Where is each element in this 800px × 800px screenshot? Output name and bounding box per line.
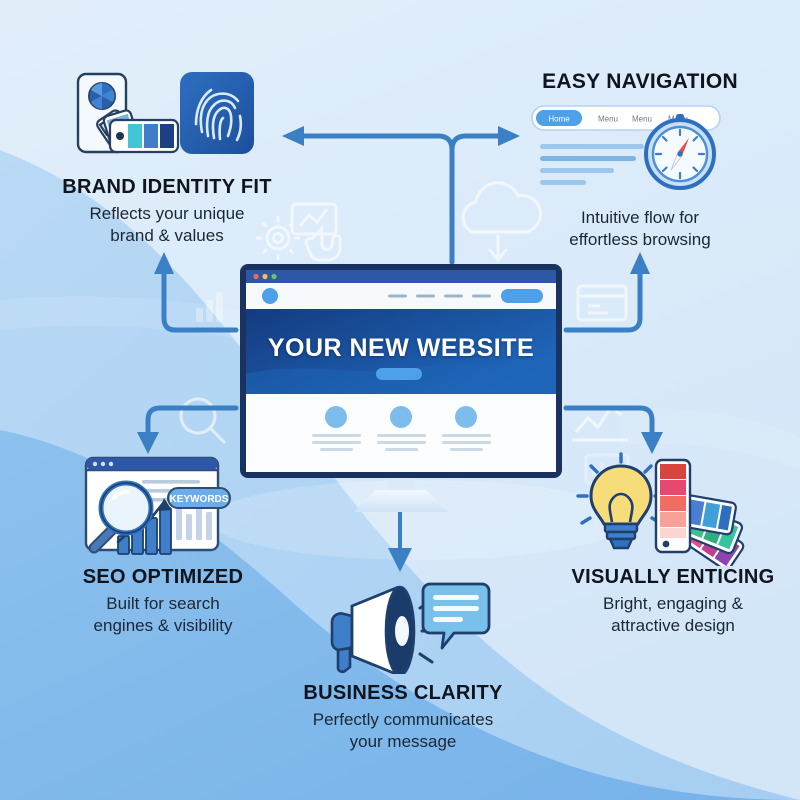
site-header <box>246 283 556 309</box>
feature-cards <box>246 394 556 472</box>
website-monitor[interactable]: YOUR NEW WEBSITE <box>236 262 566 512</box>
arrow-to-brand-identity-top <box>282 126 452 262</box>
keywords-badge-label: KEYWORDS <box>170 494 229 505</box>
business-clarity-icons <box>312 578 492 674</box>
lightbulb-icon <box>591 466 651 548</box>
brand-identity-icons <box>70 66 260 176</box>
feature-easy-navigation: EASY NAVIGATION <box>520 70 760 93</box>
monitor-graphic <box>236 262 566 512</box>
aperture-logo-icon <box>89 83 115 109</box>
content-lines <box>540 144 644 185</box>
arrow-to-easy-navigation <box>566 252 650 330</box>
arrow-to-brand-identity <box>154 252 236 330</box>
palette-strip-front <box>656 460 690 552</box>
header-cta-button <box>501 289 543 303</box>
feature-description: Perfectly communicates your message <box>278 709 528 753</box>
feature-seo-optimized: SEO OPTIMIZED Built for search engines &… <box>38 566 288 637</box>
site-logo-circle <box>262 288 278 304</box>
arrow-to-easy-navigation-top <box>452 126 520 262</box>
hero-cta-button <box>376 368 422 380</box>
fingerprint-icon <box>180 72 254 154</box>
feature-business-clarity: BUSINESS CLARITY Perfectly communicates … <box>278 682 528 753</box>
browser-titlebar <box>246 270 556 283</box>
nav-item-label-2: Menu <box>598 115 618 124</box>
nav-item-label-3: Menu <box>632 115 652 124</box>
arrow-to-business-clarity <box>388 512 412 572</box>
megaphone-icon <box>332 587 436 674</box>
feature-brand-identity-fit: BRAND IDENTITY FIT Reflects your unique … <box>42 176 292 247</box>
monitor-stand <box>354 474 448 512</box>
feature-description: Built for search engines & visibility <box>38 593 288 637</box>
keywords-badge: KEYWORDS <box>168 488 230 508</box>
color-palette-fan-icon <box>656 460 745 566</box>
feature-title: VISUALLY ENTICING <box>548 566 798 588</box>
seo-optimized-icons: KEYWORDS <box>68 452 240 564</box>
feature-title: SEO OPTIMIZED <box>38 566 288 588</box>
visually-enticing-icons <box>574 452 750 566</box>
arrow-to-seo-optimized <box>137 408 236 454</box>
arrow-to-visually-enticing <box>566 408 663 454</box>
feature-description: Reflects your unique brand & values <box>42 203 292 247</box>
maximize-dot <box>271 274 276 279</box>
minimize-dot <box>262 274 267 279</box>
feature-description: Bright, engaging & attractive design <box>548 593 798 637</box>
feature-easy-navigation-desc: Intuitive flow for effortless browsing <box>520 202 760 251</box>
easy-navigation-icons: Home Menu Menu Menu <box>530 104 746 196</box>
feature-description: Intuitive flow for effortless browsing <box>520 207 760 251</box>
infographic-canvas: YOUR NEW WEBSITE <box>0 0 800 800</box>
close-dot <box>253 274 258 279</box>
feature-title: BUSINESS CLARITY <box>278 682 528 704</box>
feature-visually-enticing: VISUALLY ENTICING Bright, engaging & att… <box>548 566 798 637</box>
nav-item-home-label: Home <box>548 115 570 124</box>
color-swatch-fan-icon <box>78 74 178 152</box>
hero-title: YOUR NEW WEBSITE <box>236 334 566 363</box>
feature-title: EASY NAVIGATION <box>520 70 760 93</box>
speech-bubble-icon <box>423 584 489 648</box>
feature-title: BRAND IDENTITY FIT <box>42 176 292 198</box>
